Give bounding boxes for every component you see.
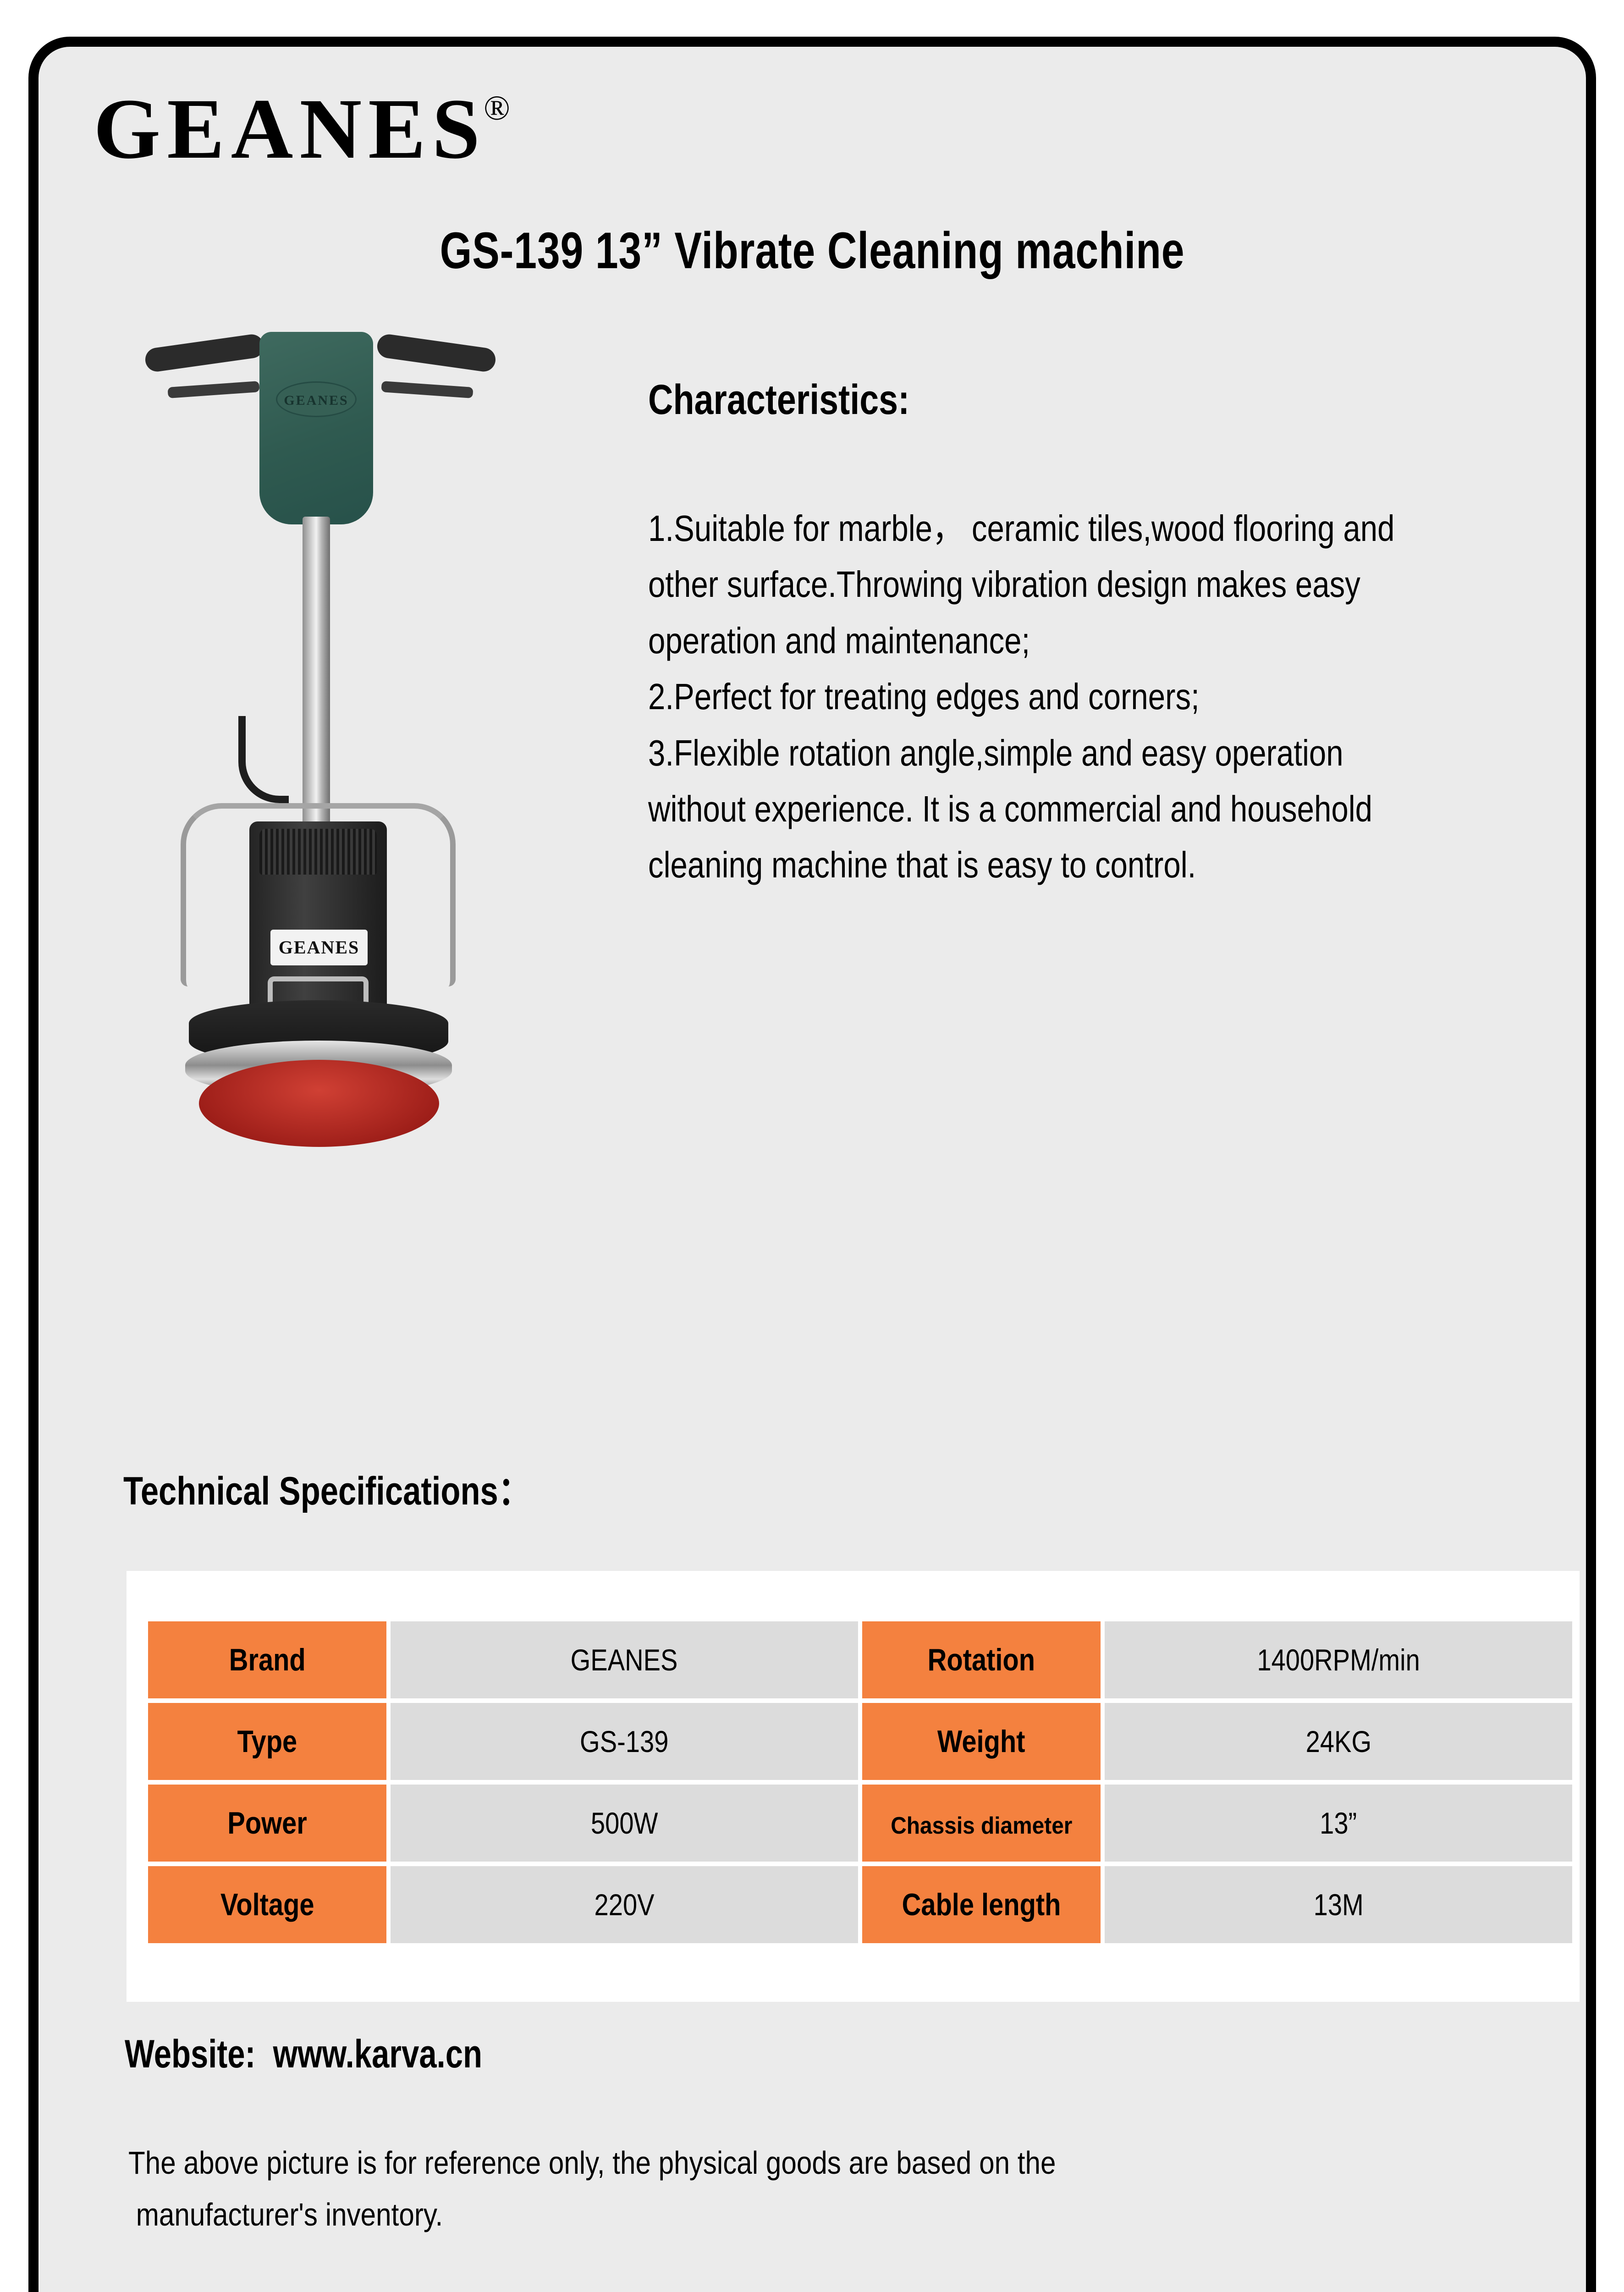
spec-key-power: Power — [148, 1785, 386, 1862]
specifications-panel: Brand GEANES Rotation 1400RPM/min Type G… — [127, 1571, 1580, 2002]
spec-key-voltage: Voltage — [148, 1866, 386, 1943]
table-row: Power 500W Chassis diameter 13” — [148, 1785, 1572, 1862]
product-image: GEANES GEANES — [130, 303, 511, 1358]
website-line: Website: www.karva.cn — [125, 2032, 482, 2077]
brand-logo-text: GEANES — [94, 86, 486, 172]
characteristics-body: 1.Suitable for marble， ceramic tiles,woo… — [648, 501, 1434, 893]
page-title: GS-139 13” Vibrate Cleaning machine — [193, 221, 1431, 280]
handle-badge-label: GEANES — [276, 381, 357, 417]
handle-housing-icon: GEANES — [259, 332, 373, 524]
handle-grip-right-icon — [376, 333, 497, 373]
characteristics-heading: Characteristics: — [648, 376, 909, 424]
motor-vent-icon — [259, 829, 377, 875]
table-row: Brand GEANES Rotation 1400RPM/min — [148, 1621, 1572, 1698]
spec-value-chassis-diameter: 13” — [1105, 1785, 1572, 1862]
spec-key-type: Type — [148, 1703, 386, 1780]
spec-key-weight: Weight — [862, 1703, 1101, 1780]
spec-key-brand: Brand — [148, 1621, 386, 1698]
technical-specifications-heading: Technical Specifications： — [123, 1459, 530, 1516]
spec-key-rotation: Rotation — [862, 1621, 1101, 1698]
spec-value-rotation: 1400RPM/min — [1105, 1621, 1572, 1698]
spec-value-weight: 24KG — [1105, 1703, 1572, 1780]
spec-value-brand: GEANES — [391, 1621, 858, 1698]
motor-badge-label: GEANES — [270, 930, 368, 965]
spec-value-power: 500W — [391, 1785, 858, 1862]
spec-value-type: GS-139 — [391, 1703, 858, 1780]
power-cable-icon — [238, 716, 289, 803]
table-row: Type GS-139 Weight 24KG — [148, 1703, 1572, 1780]
spec-value-cable-length: 13M — [1105, 1866, 1572, 1943]
spec-key-cable-length: Cable length — [862, 1866, 1101, 1943]
control-lever-left-icon — [167, 381, 259, 398]
product-spec-sheet: GEANES® GS-139 13” Vibrate Cleaning mach… — [28, 37, 1596, 2292]
registered-trademark-icon: ® — [484, 88, 510, 128]
spec-key-chassis-diameter: Chassis diameter — [862, 1785, 1101, 1862]
specifications-table: Brand GEANES Rotation 1400RPM/min Type G… — [144, 1617, 1576, 1948]
cleaning-pad-icon — [199, 1060, 439, 1147]
handle-grip-left-icon — [144, 333, 265, 373]
brand-logo: GEANES® — [94, 86, 510, 172]
spec-value-voltage: 220V — [391, 1866, 858, 1943]
control-lever-right-icon — [381, 381, 473, 398]
table-row: Voltage 220V Cable length 13M — [148, 1866, 1572, 1943]
disclaimer-text: The above picture is for reference only,… — [128, 2137, 1311, 2241]
